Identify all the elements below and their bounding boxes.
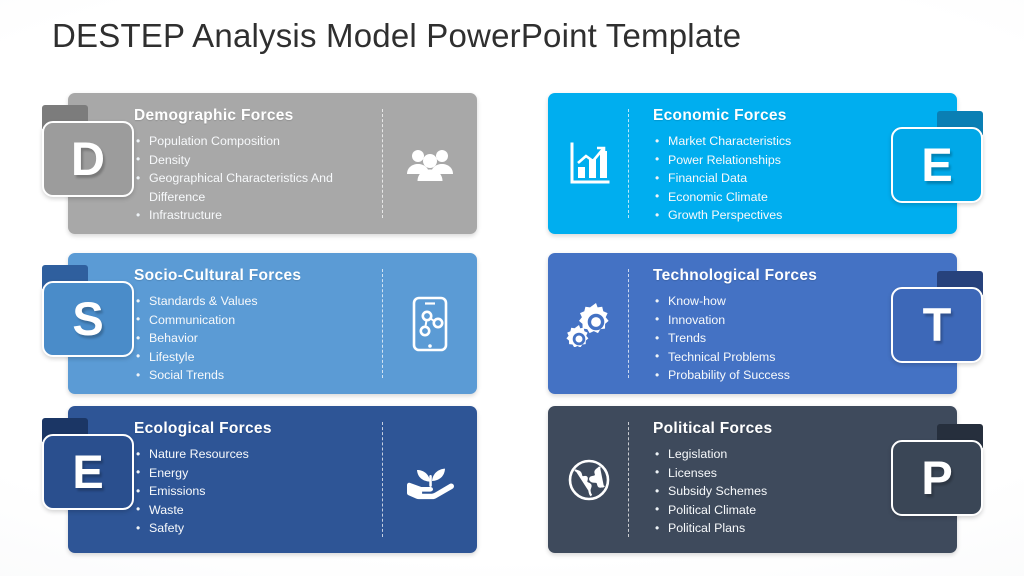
globe-icon xyxy=(550,406,628,553)
bullet-item: Know-how xyxy=(653,292,891,311)
force-card-socio-cultural[interactable]: SSocio-Cultural ForcesStandards & Values… xyxy=(68,253,477,394)
bullet-item: Waste xyxy=(134,501,372,520)
bullet-list: LegislationLicensesSubsidy SchemesPoliti… xyxy=(653,445,891,538)
letter-badge-economic: E xyxy=(891,111,983,203)
bullet-list: Market CharacteristicsPower Relationship… xyxy=(653,132,891,225)
card-content: Ecological ForcesNature ResourcesEnergyE… xyxy=(134,406,372,553)
bullet-item: Financial Data xyxy=(653,169,891,188)
bullet-item: Political Climate xyxy=(653,501,891,520)
bullet-item: Licenses xyxy=(653,464,891,483)
bullet-item: Subsidy Schemes xyxy=(653,482,891,501)
dashed-divider xyxy=(382,109,383,218)
dashed-divider xyxy=(628,422,629,537)
force-card-political[interactable]: PPolitical ForcesLegislationLicensesSubs… xyxy=(548,406,957,553)
bullet-list: Population CompositionDensityGeographica… xyxy=(134,132,372,225)
badge-letter: S xyxy=(72,295,103,342)
bullet-item: Probability of Success xyxy=(653,366,891,385)
card-content: Demographic ForcesPopulation Composition… xyxy=(134,93,372,234)
hand-plant-icon xyxy=(391,406,469,553)
badge-letter: D xyxy=(71,135,105,182)
badge-letter: T xyxy=(923,301,952,348)
bullet-list: Nature ResourcesEnergyEmissionsWasteSafe… xyxy=(134,445,372,538)
bullet-item: Growth Perspectives xyxy=(653,206,891,225)
badge-letter: P xyxy=(921,454,952,501)
smartphone-network-icon xyxy=(391,253,469,394)
bullet-item: Economic Climate xyxy=(653,188,891,207)
force-card-ecological[interactable]: EEcological ForcesNature ResourcesEnergy… xyxy=(68,406,477,553)
badge-box: D xyxy=(42,121,134,197)
bullet-item: Nature Resources xyxy=(134,445,372,464)
badge-letter: E xyxy=(921,141,952,188)
bullet-item: Safety xyxy=(134,519,372,538)
bullet-item: Lifestyle xyxy=(134,348,372,367)
bullet-item: Innovation xyxy=(653,311,891,330)
bullet-item: Power Relationships xyxy=(653,151,891,170)
bullet-item: Geographical Characteristics And Differe… xyxy=(134,169,372,206)
force-card-economic[interactable]: EEconomic ForcesMarket CharacteristicsPo… xyxy=(548,93,957,234)
dashed-divider xyxy=(382,269,383,378)
dashed-divider xyxy=(628,269,629,378)
badge-box: E xyxy=(42,434,134,510)
bullet-item: Infrastructure xyxy=(134,206,372,225)
bullet-item: Technical Problems xyxy=(653,348,891,367)
dashed-divider xyxy=(382,422,383,537)
card-title: Political Forces xyxy=(653,420,891,438)
slide-canvas: DESTEP Analysis Model PowerPoint Templat… xyxy=(0,0,1024,576)
letter-badge-ecological: E xyxy=(42,418,134,510)
badge-box: E xyxy=(891,127,983,203)
force-card-technological[interactable]: TTechnological ForcesKnow-howInnovationT… xyxy=(548,253,957,394)
letter-badge-demographic: D xyxy=(42,105,134,197)
badge-box: T xyxy=(891,287,983,363)
letter-badge-technological: T xyxy=(891,271,983,363)
people-group-icon xyxy=(391,93,469,234)
badge-box: S xyxy=(42,281,134,357)
bullet-item: Trends xyxy=(653,329,891,348)
bullet-item: Behavior xyxy=(134,329,372,348)
bar-chart-growth-icon xyxy=(550,93,628,234)
card-title: Technological Forces xyxy=(653,267,891,285)
force-card-demographic[interactable]: DDemographic ForcesPopulation Compositio… xyxy=(68,93,477,234)
card-title: Economic Forces xyxy=(653,107,891,125)
letter-badge-socio-cultural: S xyxy=(42,265,134,357)
badge-letter: E xyxy=(72,448,103,495)
bullet-list: Standards & ValuesCommunicationBehaviorL… xyxy=(134,292,372,385)
letter-badge-political: P xyxy=(891,424,983,516)
bullet-item: Communication xyxy=(134,311,372,330)
badge-box: P xyxy=(891,440,983,516)
bullet-item: Social Trends xyxy=(134,366,372,385)
bullet-item: Emissions xyxy=(134,482,372,501)
card-content: Political ForcesLegislationLicensesSubsi… xyxy=(653,406,891,553)
bullet-item: Standards & Values xyxy=(134,292,372,311)
dashed-divider xyxy=(628,109,629,218)
card-title: Ecological Forces xyxy=(134,420,372,438)
bullet-item: Political Plans xyxy=(653,519,891,538)
bullet-item: Population Composition xyxy=(134,132,372,151)
card-content: Technological ForcesKnow-howInnovationTr… xyxy=(653,253,891,394)
gears-icon xyxy=(550,253,628,394)
card-title: Socio-Cultural Forces xyxy=(134,267,372,285)
card-title: Demographic Forces xyxy=(134,107,372,125)
bullet-list: Know-howInnovationTrendsTechnical Proble… xyxy=(653,292,891,385)
bullet-item: Market Characteristics xyxy=(653,132,891,151)
bullet-item: Energy xyxy=(134,464,372,483)
page-title: DESTEP Analysis Model PowerPoint Templat… xyxy=(52,17,741,55)
bullet-item: Legislation xyxy=(653,445,891,464)
card-content: Economic ForcesMarket CharacteristicsPow… xyxy=(653,93,891,234)
card-content: Socio-Cultural ForcesStandards & ValuesC… xyxy=(134,253,372,394)
bullet-item: Density xyxy=(134,151,372,170)
